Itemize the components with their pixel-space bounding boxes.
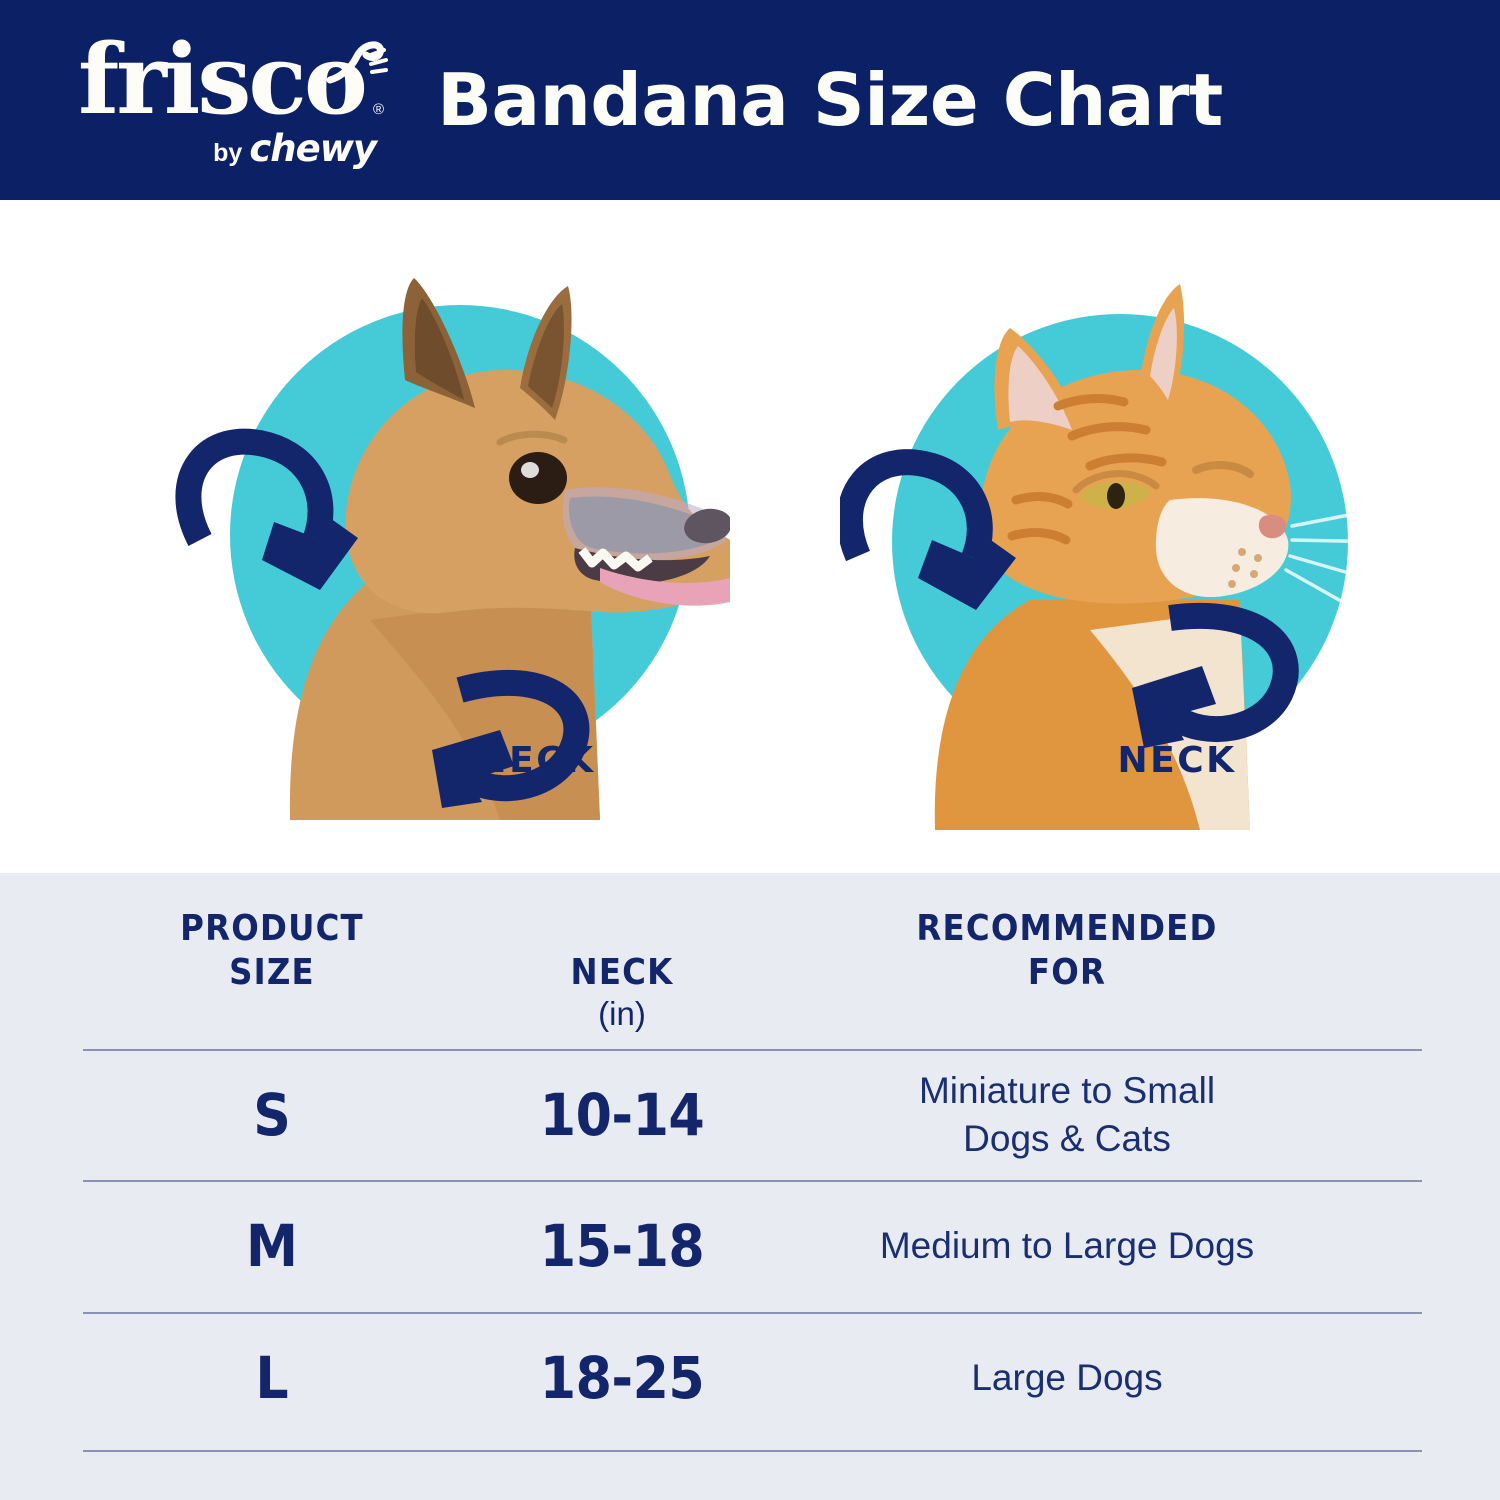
cell-recommended: Large Dogs [772, 1354, 1362, 1401]
dog-illustration [170, 260, 730, 820]
column-header-neck-title: NECK [571, 952, 674, 993]
cell-size: M [72, 1217, 472, 1275]
cell-recommended: Miniature to Small Dogs & Cats [772, 1067, 1362, 1162]
illustration-area: NECK [0, 200, 1500, 873]
dog-neck-diagram-icon [170, 260, 730, 820]
cell-neck: 18-25 [472, 1349, 772, 1407]
dog-neck-label: NECK [256, 740, 816, 781]
cat-neck-label: NECK [897, 740, 1457, 781]
logo-by-text: by [213, 139, 242, 168]
column-header-neck-unit: (in) [472, 995, 772, 1033]
size-table: PRODUCT SIZE NECK (in) RECOMMENDED FOR S… [0, 873, 1500, 1500]
size-chart-page: frisco ® by chewy Bandana Size Chart [0, 0, 1500, 1500]
header-bar: frisco ® by chewy Bandana Size Chart [0, 0, 1500, 200]
table-row: L 18-25 Large Dogs [0, 1312, 1500, 1443]
table-row: S 10-14 Miniature to Small Dogs & Cats [0, 1049, 1500, 1180]
table-header-row: PRODUCT SIZE NECK (in) RECOMMENDED FOR [0, 889, 1500, 1049]
cell-recommended: Medium to Large Dogs [772, 1222, 1362, 1269]
column-header-recommended-for: RECOMMENDED FOR [772, 889, 1362, 995]
cell-size: L [72, 1349, 472, 1407]
cell-size: S [72, 1086, 472, 1144]
cell-neck: 15-18 [472, 1217, 772, 1275]
table-row: M 15-18 Medium to Large Dogs [0, 1180, 1500, 1311]
row-divider [83, 1450, 1422, 1452]
cell-neck: 10-14 [472, 1086, 772, 1144]
column-header-product-size: PRODUCT SIZE [72, 889, 472, 995]
page-title: Bandana Size Chart [0, 58, 1500, 142]
